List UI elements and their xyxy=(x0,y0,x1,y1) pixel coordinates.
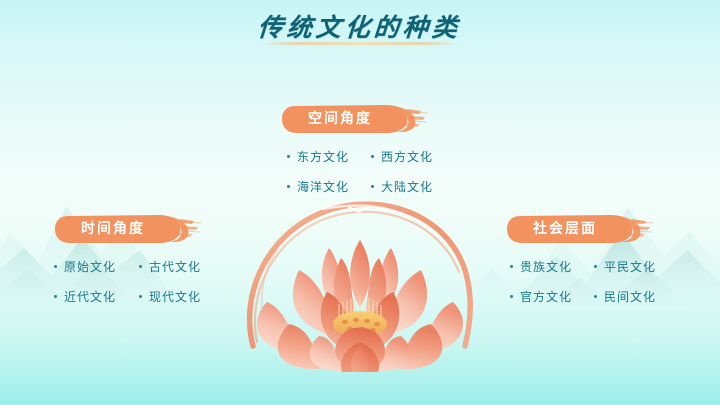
list-item-label: 平民文化 xyxy=(604,258,656,275)
list-item-label: 原始文化 xyxy=(64,258,116,275)
list-item: 民间文化 xyxy=(594,288,656,305)
slide-canvas: 传统文化的种类 xyxy=(0,0,720,405)
bullet-icon xyxy=(54,295,57,298)
bullet-icon xyxy=(371,155,374,158)
list-item: 海洋文化 xyxy=(287,178,349,195)
list-item-label: 现代文化 xyxy=(149,288,201,305)
page-title: 传统文化的种类 xyxy=(0,8,720,44)
list-item: 平民文化 xyxy=(594,258,656,275)
list-item: 官方文化 xyxy=(510,288,572,305)
section-space-items: 东方文化 西方文化 海洋文化 大陆文化 xyxy=(287,148,433,195)
list-item-label: 官方文化 xyxy=(520,288,572,305)
list-item-label: 东方文化 xyxy=(297,148,349,165)
list-item-label: 海洋文化 xyxy=(297,178,349,195)
list-item: 近代文化 xyxy=(54,288,117,305)
bullet-icon xyxy=(371,185,374,188)
section-social-banner: 社会层面 xyxy=(506,214,654,244)
bullet-icon xyxy=(139,295,142,298)
section-social-items: 贵族文化 平民文化 官方文化 民间文化 xyxy=(510,258,656,305)
page-title-text: 传统文化的种类 xyxy=(251,8,469,44)
section-space-banner-label: 空间角度 xyxy=(281,104,399,134)
list-item-label: 民间文化 xyxy=(604,288,656,305)
lotus-flower xyxy=(257,240,463,372)
bullet-icon xyxy=(54,265,57,268)
section-social: 社会层面 贵族文化 平民文化 官方文化 民间文化 xyxy=(506,214,656,305)
list-item-label: 西方文化 xyxy=(381,148,433,165)
section-time: 时间角度 原始文化 古代文化 近代文化 现代文化 xyxy=(54,214,202,305)
section-social-banner-label: 社会层面 xyxy=(506,214,624,244)
list-item-label: 近代文化 xyxy=(64,288,116,305)
list-item-label: 贵族文化 xyxy=(520,258,572,275)
bullet-icon xyxy=(510,295,513,298)
list-item-label: 大陆文化 xyxy=(381,178,433,195)
list-item: 东方文化 xyxy=(287,148,349,165)
bullet-icon xyxy=(510,265,513,268)
list-item: 现代文化 xyxy=(139,288,202,305)
bullet-icon xyxy=(287,155,290,158)
bullet-icon xyxy=(287,185,290,188)
bullet-icon xyxy=(594,265,597,268)
section-time-items: 原始文化 古代文化 近代文化 现代文化 xyxy=(54,258,202,305)
title-underline xyxy=(262,42,458,45)
section-time-banner: 时间角度 xyxy=(54,214,202,244)
center-graphic xyxy=(233,196,487,372)
bullet-icon xyxy=(139,265,142,268)
section-time-banner-label: 时间角度 xyxy=(54,214,172,244)
section-space-banner: 空间角度 xyxy=(281,104,429,134)
section-space: 空间角度 东方文化 西方文化 海洋文化 大陆文化 xyxy=(281,104,433,195)
list-item: 贵族文化 xyxy=(510,258,572,275)
bullet-icon xyxy=(594,295,597,298)
list-item: 古代文化 xyxy=(139,258,202,275)
list-item-label: 古代文化 xyxy=(149,258,201,275)
list-item: 大陆文化 xyxy=(371,178,433,195)
list-item: 原始文化 xyxy=(54,258,117,275)
list-item: 西方文化 xyxy=(371,148,433,165)
